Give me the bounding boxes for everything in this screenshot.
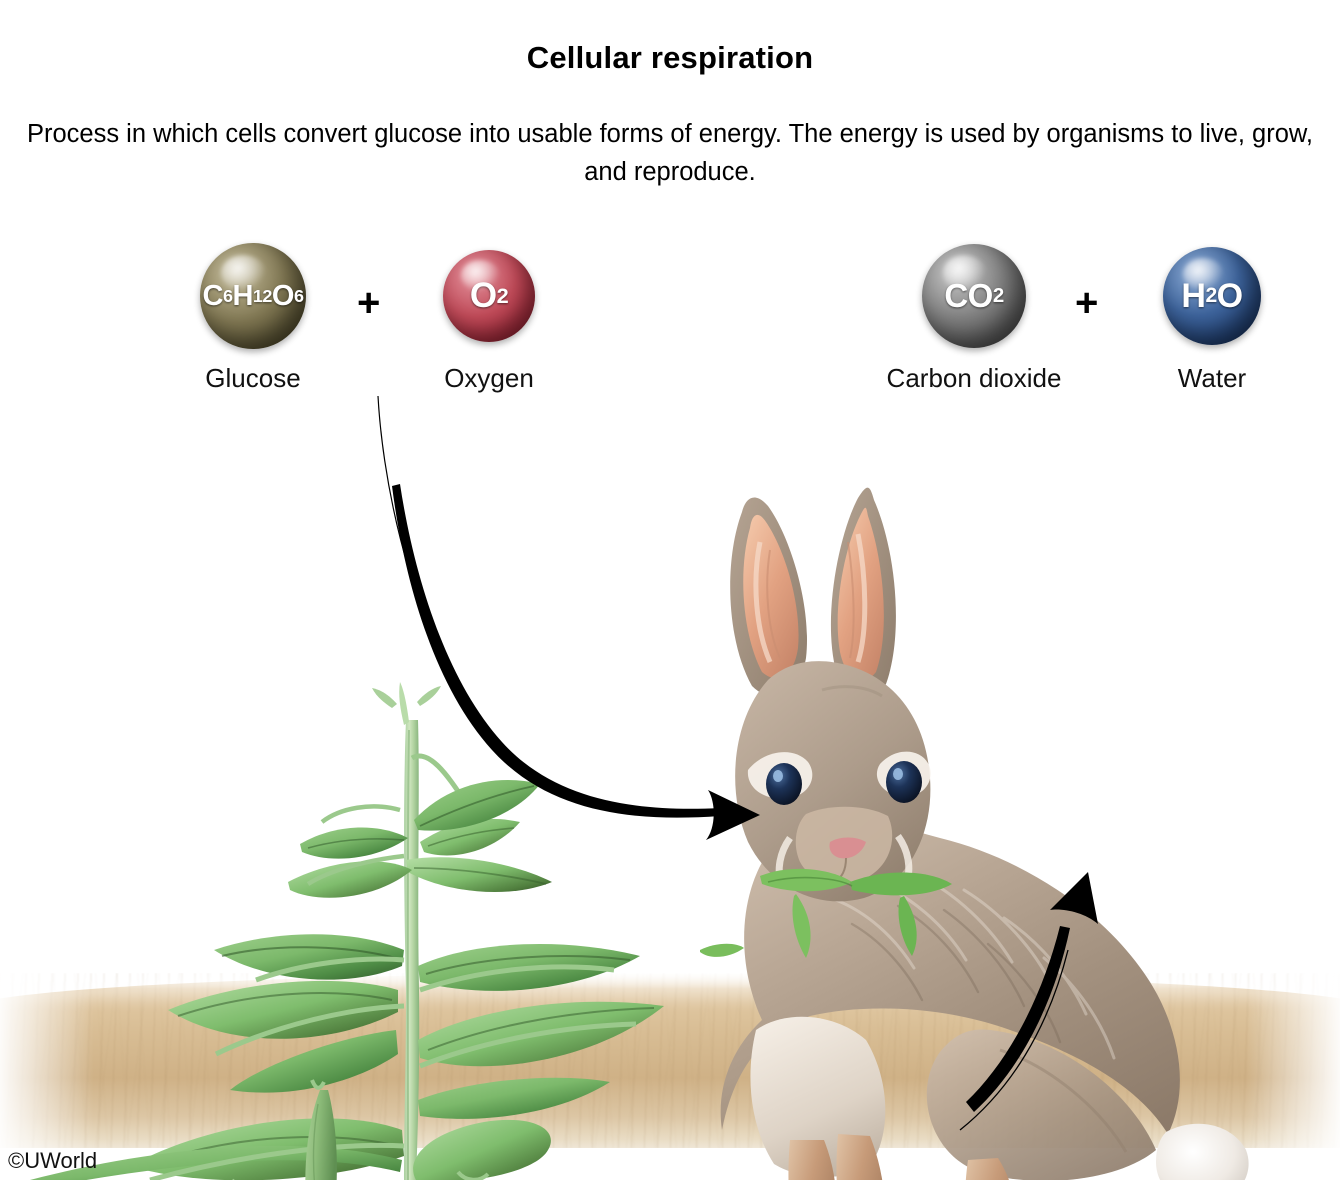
- glucose-sphere: C6H12O6: [200, 243, 306, 349]
- scene-artwork: [0, 390, 1340, 1180]
- plant-leaves-right: [413, 944, 664, 1180]
- equation-row: C6H12O6 Glucose + O2 Oxygen CO2 Carbon d…: [0, 235, 1340, 405]
- carbon-dioxide-formula: CO2: [922, 244, 1026, 348]
- plant-bean: [30, 682, 664, 1180]
- page-title: Cellular respiration: [0, 40, 1340, 76]
- diagram-canvas: Cellular respiration Process in which ce…: [0, 0, 1340, 1180]
- water-formula: H2O: [1163, 247, 1261, 345]
- molecule-oxygen: O2 Oxygen: [443, 250, 535, 342]
- molecule-carbon-dioxide: CO2 Carbon dioxide: [922, 244, 1026, 348]
- loose-leaf: [700, 944, 744, 957]
- plus-sign-reactants: +: [357, 283, 380, 323]
- rabbit: [721, 488, 1249, 1180]
- plant-stem: [404, 720, 419, 1180]
- description-text: Process in which cells convert glucose i…: [20, 115, 1320, 191]
- plant-leaves-upper: [288, 756, 552, 898]
- rabbit-eye-left: [766, 763, 802, 805]
- plus-sign-products: +: [1075, 283, 1098, 323]
- rabbit-eye-right: [886, 761, 922, 803]
- arrow-glucose-oxygen-to-rabbit: [378, 396, 760, 840]
- watermark: ©UWorld: [8, 1148, 97, 1174]
- molecule-water: H2O Water: [1163, 247, 1261, 345]
- molecule-glucose: C6H12O6 Glucose: [200, 243, 306, 349]
- rabbit-tail: [1156, 1124, 1249, 1180]
- oxygen-formula: O2: [443, 250, 535, 342]
- water-sphere: H2O: [1163, 247, 1261, 345]
- oxygen-sphere: O2: [443, 250, 535, 342]
- carbon-dioxide-sphere: CO2: [922, 244, 1026, 348]
- glucose-formula: C6H12O6: [200, 243, 306, 349]
- plant-leaves-left: [30, 934, 404, 1180]
- scene: [0, 390, 1340, 1180]
